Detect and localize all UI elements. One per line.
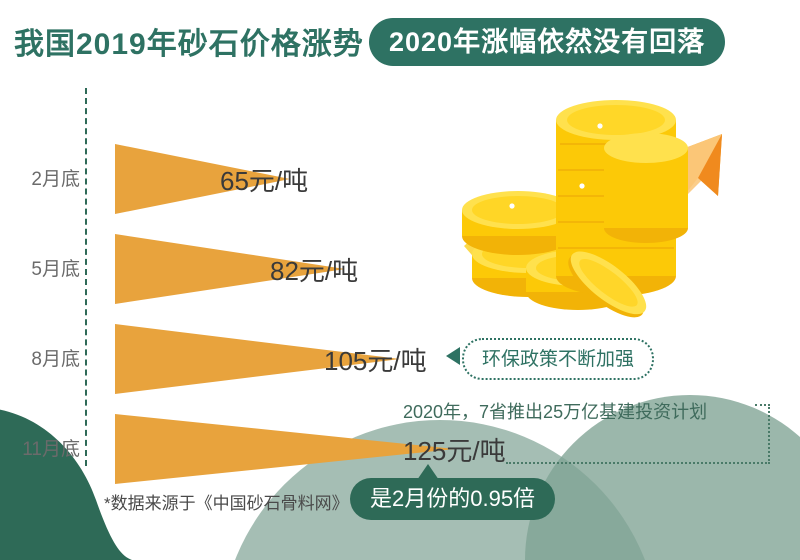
row-label-1: 5月底 — [22, 254, 80, 281]
status-badge-label: 2020年涨幅依然没有回落 — [389, 29, 705, 56]
investment-note-label: 2020年，7省推出25万亿基建投资计划 — [403, 398, 707, 424]
page-title: 我国2019年砂石价格涨势 — [14, 19, 364, 63]
ratio-pill-label: 是2月份的0.95倍 — [370, 488, 535, 510]
table-row: 8月底 105元/吨 — [0, 315, 800, 407]
table-row: 5月底 82元/吨 — [0, 225, 800, 317]
policy-callout-label: 环保政策不断加强 — [482, 350, 634, 369]
header: 我国2019年砂石价格涨势 2020年涨幅依然没有回落 — [0, 0, 800, 88]
policy-bubble-arrow-icon — [446, 347, 460, 365]
status-badge: 2020年涨幅依然没有回落 — [369, 18, 725, 66]
note-box-bottom-border — [506, 462, 770, 464]
row-value-1: 82元/吨 — [270, 251, 358, 288]
infographic-canvas: 我国2019年砂石价格涨势 2020年涨幅依然没有回落 — [0, 0, 800, 560]
row-label-0: 2月底 — [22, 164, 80, 191]
source-footnote: *数据来源于《中国砂石骨料网》 — [104, 489, 349, 514]
table-row: 2月底 65元/吨 — [0, 135, 800, 227]
row-value-0: 65元/吨 — [220, 161, 308, 198]
row-label-2: 8月底 — [22, 344, 80, 371]
row-value-3: 125元/吨 — [403, 431, 506, 468]
note-box-right-border — [768, 404, 770, 464]
row-value-2: 105元/吨 — [324, 341, 427, 378]
policy-callout-bubble: 环保政策不断加强 — [462, 338, 654, 380]
row-label-3: 11月底 — [14, 434, 80, 461]
ratio-pill: 是2月份的0.95倍 — [350, 478, 555, 520]
